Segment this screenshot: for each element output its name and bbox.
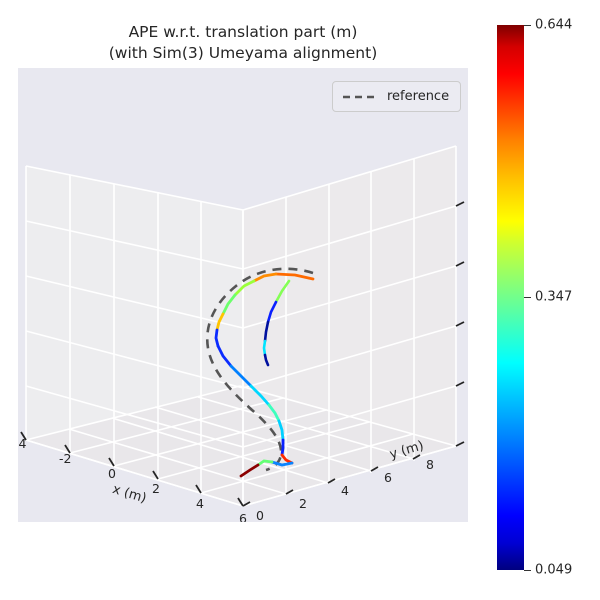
colorbar-tick-mid [524,297,531,298]
chart-title: APE w.r.t. translation part (m) (with Si… [18,22,468,64]
x-tick-label-3: 2 [152,481,160,496]
legend-swatch-reference [342,87,376,106]
colorbar-gradient [497,25,524,570]
figure-canvas: APE w.r.t. translation part (m) (with Si… [0,0,600,600]
chart-title-line-2: (with Sim(3) Umeyama alignment) [18,43,468,64]
x-tick-label-4: 4 [196,496,204,511]
plot-area-3d[interactable]: -4 -2 0 2 4 6 0 2 4 6 8 -2 0 2 4 6 x (m)… [18,68,468,522]
legend[interactable]: reference [332,81,461,112]
y-tick-label-1: 2 [299,496,307,511]
chart-title-line-1: APE w.r.t. translation part (m) [18,22,468,43]
legend-label-reference: reference [387,89,449,104]
colorbar-label-mid: 0.347 [535,290,572,305]
colorbar-label-min: 0.049 [535,563,572,578]
colorbar-label-max: 0.644 [535,18,572,33]
colorbar-tick-max [524,25,531,26]
x-tick-label-0: -4 [18,436,26,451]
y-tick-label-3: 6 [384,470,392,485]
colorbar-tick-min [524,570,531,571]
x-tick-label-5: 6 [239,511,247,522]
y-tick-label-2: 4 [341,483,349,498]
y-tick-label-4: 8 [426,457,434,472]
colorbar[interactable]: 0.644 0.347 0.049 [497,25,524,570]
y-tick-label-0: 0 [256,508,264,522]
x-tick-label-2: 0 [108,466,116,481]
x-tick-label-1: -2 [59,451,71,466]
